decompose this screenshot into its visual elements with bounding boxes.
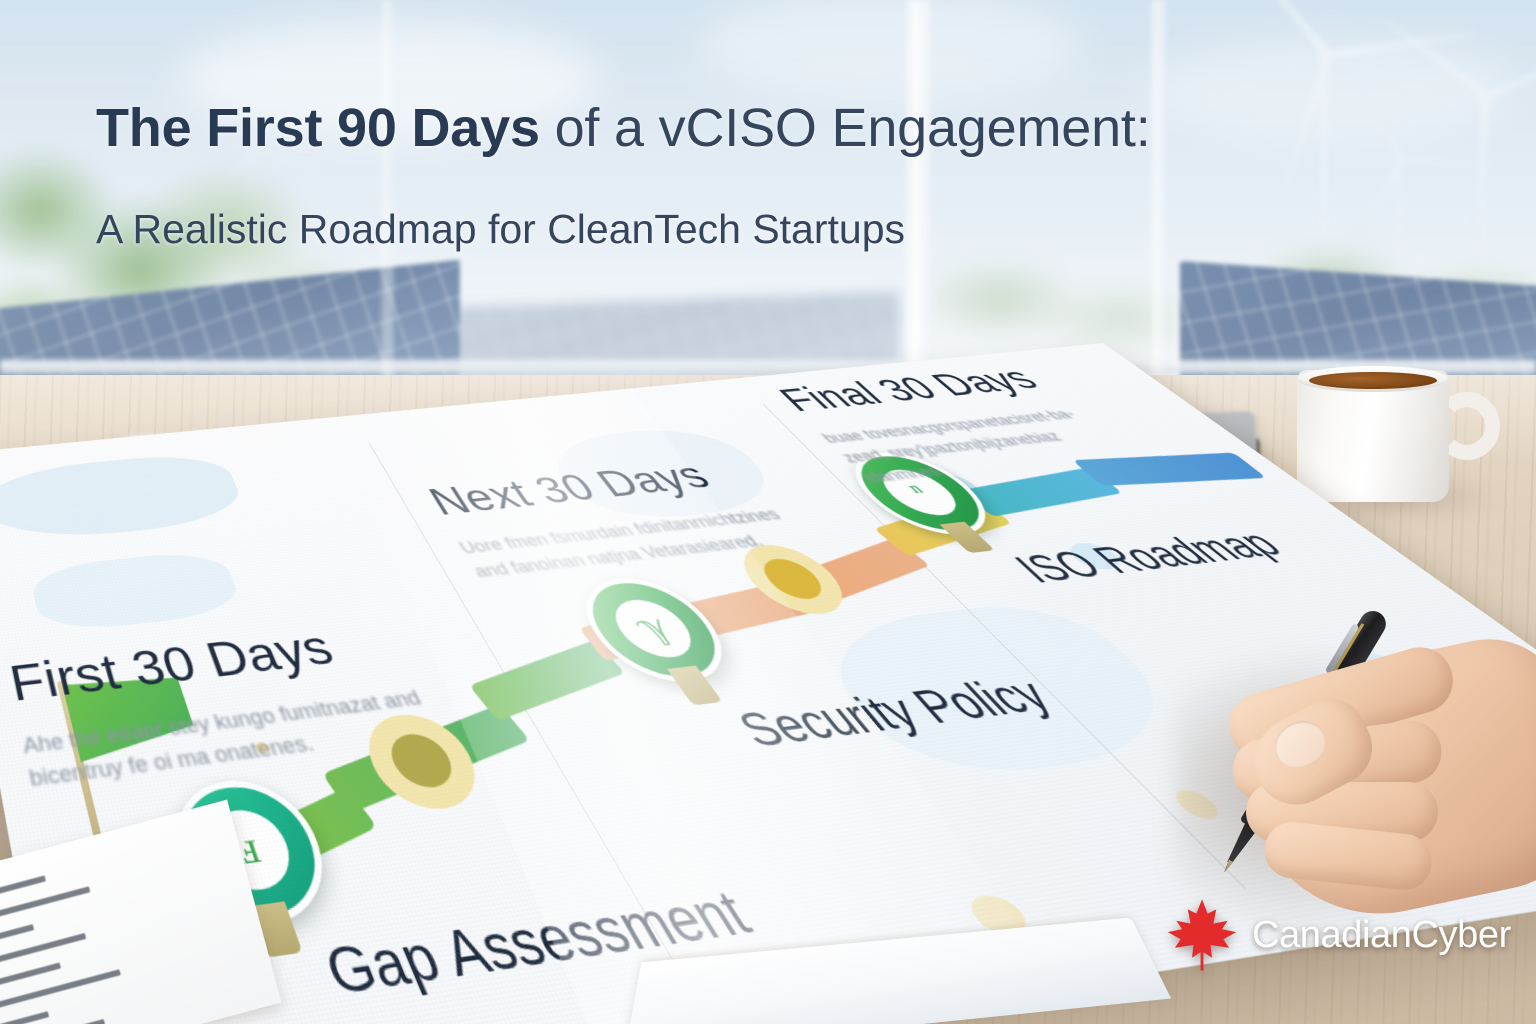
window-mullion (905, 0, 931, 400)
maple-leaf-icon (1166, 898, 1238, 972)
headline-bold: The First 90 Days (96, 98, 540, 158)
policy-pin-icon: ℽ (602, 597, 706, 661)
brand-word-two: Cyber (1412, 914, 1511, 956)
page-headline: The First 90 Days of a vCISO Engagement: (96, 98, 1436, 158)
brand-logo-text: CanadianCyber (1252, 914, 1511, 957)
window-mullion (1150, 0, 1166, 400)
coffee-liquid (1309, 372, 1437, 389)
phase-first-30-days: First 30 Days Ahe the eeaer stey kungo f… (5, 600, 564, 796)
brand-logo[interactable]: CanadianCyber (1166, 898, 1511, 972)
window-mullion (380, 0, 394, 400)
headline-regular: of a vCISO Engagement: (540, 98, 1151, 158)
brand-word-one: Canadian (1252, 914, 1412, 956)
page-subheadline: A Realistic Roadmap for CleanTech Startu… (96, 206, 1296, 253)
scene-root: 14 Check (0, 0, 1536, 1024)
